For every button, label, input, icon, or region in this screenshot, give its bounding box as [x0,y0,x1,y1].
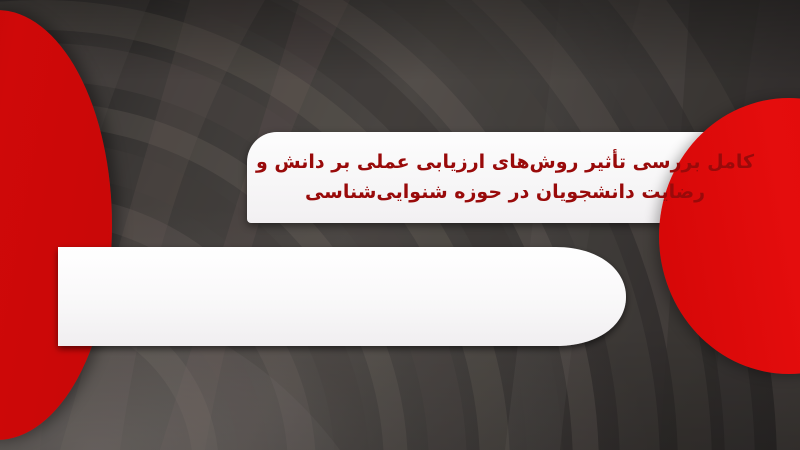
slide-canvas: کامل بررسی تأثیر روش‌های ارزیابی عملی بر… [0,0,800,450]
content-body-text [78,258,578,336]
